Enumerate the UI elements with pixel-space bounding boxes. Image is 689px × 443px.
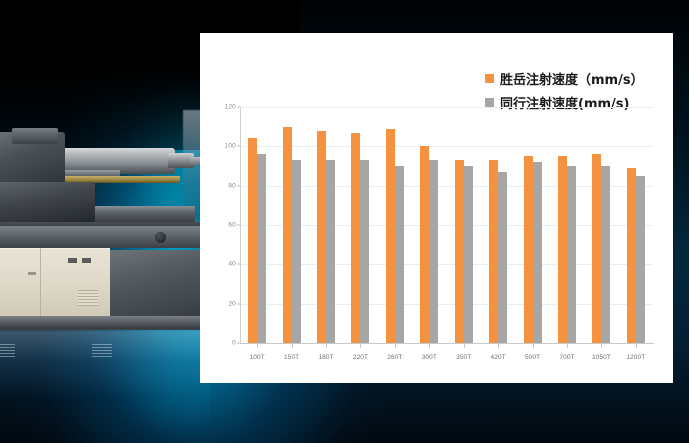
chart-panel: 胜岳注射速度（mm/s） 同行注射速度(mm/s) 02040608010012… xyxy=(200,33,673,383)
bar-peer[interactable] xyxy=(395,166,404,343)
x-tick-label: 1050T xyxy=(592,354,611,361)
machine-floor-reflection xyxy=(0,330,205,400)
x-tick: 150T xyxy=(274,344,308,364)
bar-group xyxy=(343,107,377,343)
bar-peer[interactable] xyxy=(464,166,473,343)
x-tick: 1050T xyxy=(584,344,618,364)
machine-cabinet-handle xyxy=(28,272,36,275)
screenshot-root: 胜岳注射速度（mm/s） 同行注射速度(mm/s) 02040608010012… xyxy=(0,0,689,443)
bar-shengyue[interactable] xyxy=(351,133,360,343)
legend-swatch-icon-peer xyxy=(485,98,494,107)
x-tick-layer: 100T150T180T220T260T300T350T420T500T700T… xyxy=(240,344,653,364)
machine-safety-cover xyxy=(110,250,205,316)
machine-cabinet-button-left xyxy=(68,258,77,263)
bar-shengyue[interactable] xyxy=(524,156,533,343)
x-tick: 180T xyxy=(309,344,343,364)
x-tick: 420T xyxy=(481,344,515,364)
bar-shengyue[interactable] xyxy=(283,127,292,343)
bar-group xyxy=(447,107,481,343)
machine-bench xyxy=(0,226,205,248)
bar-shengyue[interactable] xyxy=(455,160,464,343)
bar-peer[interactable] xyxy=(360,160,369,343)
x-tick: 700T xyxy=(550,344,584,364)
x-tick: 350T xyxy=(447,344,481,364)
machine-lower-body xyxy=(0,182,95,222)
x-tick-label: 350T xyxy=(456,354,471,361)
bar-peer[interactable] xyxy=(292,160,301,343)
legend-label-shengyue: 胜岳注射速度（mm/s） xyxy=(500,69,644,88)
legend-swatch-icon-shengyue xyxy=(485,74,494,83)
bar-peer[interactable] xyxy=(498,172,507,343)
machine-reflection-vent-right xyxy=(92,344,112,358)
bar-shengyue[interactable] xyxy=(627,168,636,343)
x-tick-label: 700T xyxy=(559,354,574,361)
machine-cabinet-seam xyxy=(40,248,41,320)
x-tick-label: 220T xyxy=(353,354,368,361)
bar-group xyxy=(550,107,584,343)
bar-peer[interactable] xyxy=(257,154,266,343)
bar-layer xyxy=(240,107,653,343)
machine-knob xyxy=(155,232,166,243)
x-tick-label: 150T xyxy=(284,354,299,361)
bar-shengyue[interactable] xyxy=(489,160,498,343)
bar-shengyue[interactable] xyxy=(317,131,326,343)
x-tick-label: 180T xyxy=(318,354,333,361)
bar-peer[interactable] xyxy=(567,166,576,343)
bar-group xyxy=(274,107,308,343)
bar-peer[interactable] xyxy=(429,160,438,343)
bar-group xyxy=(412,107,446,343)
x-tick: 300T xyxy=(412,344,446,364)
bar-group xyxy=(240,107,274,343)
x-tick: 500T xyxy=(515,344,549,364)
bar-group xyxy=(378,107,412,343)
bar-peer[interactable] xyxy=(533,162,542,343)
bar-shengyue[interactable] xyxy=(248,138,257,343)
machine-reflection-vent-left xyxy=(0,344,15,358)
bar-shengyue[interactable] xyxy=(420,146,429,343)
x-tick-label: 300T xyxy=(422,354,437,361)
x-tick: 260T xyxy=(378,344,412,364)
bar-peer[interactable] xyxy=(326,160,335,343)
bar-peer[interactable] xyxy=(601,166,610,343)
x-tick-label: 420T xyxy=(491,354,506,361)
machine-cabinet-button-right xyxy=(82,258,91,263)
bar-group xyxy=(481,107,515,343)
machine-cabinet xyxy=(0,248,110,320)
bar-shengyue[interactable] xyxy=(558,156,567,343)
plot-area: 020406080100120 xyxy=(240,107,653,343)
legend-item-shengyue[interactable]: 胜岳注射速度（mm/s） xyxy=(485,69,644,88)
machine-base xyxy=(0,316,205,330)
x-tick-label: 500T xyxy=(525,354,540,361)
bar-group xyxy=(309,107,343,343)
x-tick-label: 1200T xyxy=(626,354,645,361)
bar-shengyue[interactable] xyxy=(592,154,601,343)
x-tick-label: 100T xyxy=(250,354,265,361)
bar-peer[interactable] xyxy=(636,176,645,343)
x-tick: 220T xyxy=(343,344,377,364)
bar-group xyxy=(619,107,653,343)
bar-group xyxy=(584,107,618,343)
x-tick: 1200T xyxy=(619,344,653,364)
machine-cabinet-vent xyxy=(78,290,98,306)
injection-molding-machine-photo xyxy=(0,0,205,443)
x-tick-label: 260T xyxy=(387,354,402,361)
machine-motor-block xyxy=(12,128,58,144)
bar-shengyue[interactable] xyxy=(386,129,395,343)
x-tick: 100T xyxy=(240,344,274,364)
bar-group xyxy=(515,107,549,343)
